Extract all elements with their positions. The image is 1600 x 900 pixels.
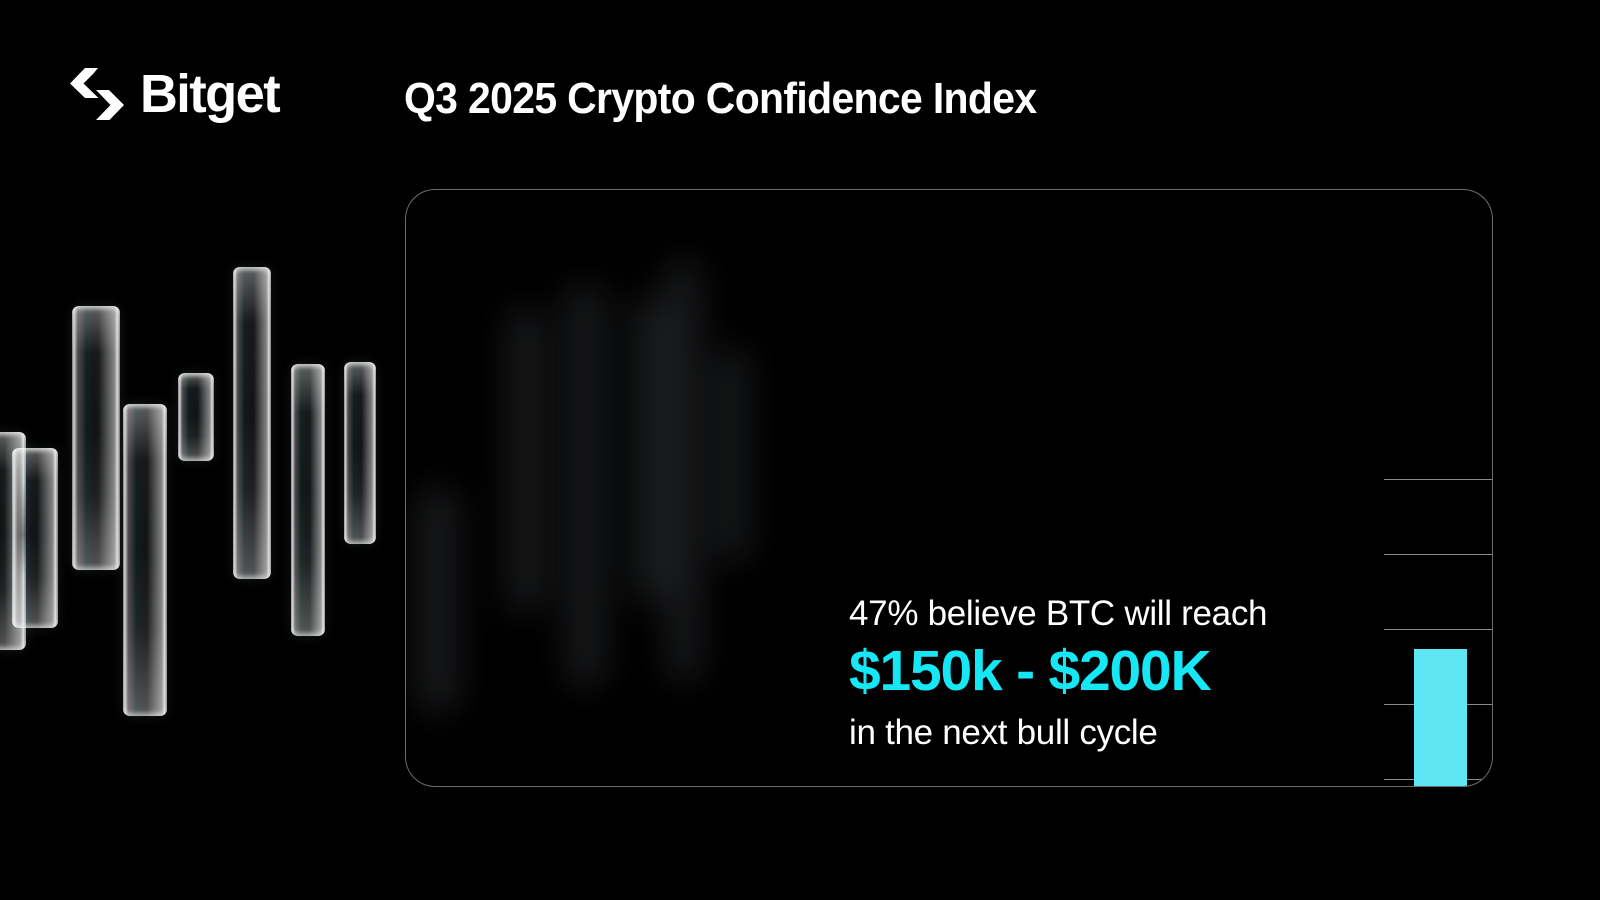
glass-prism-decoration [0, 0, 400, 900]
gridline-40: 40% [1384, 554, 1493, 555]
insight-card: 47% believe BTC will reach $150k - $200K… [405, 189, 1493, 787]
statement-lead-line: 47% believe BTC will reach [849, 594, 1389, 633]
statement-price-range: $150k - $200K [849, 637, 1389, 707]
chart-plot-area: 50% 40% 30% 20% 10% <150K 150K - 200k 20… [1384, 479, 1493, 787]
bar-0[interactable] [1414, 649, 1467, 787]
page-title: Q3 2025 Crypto Confidence Index [404, 74, 1036, 124]
glass-prism [233, 267, 271, 579]
glass-prism [72, 306, 120, 570]
statement-block: 47% believe BTC will reach $150k - $200K… [849, 594, 1389, 752]
glass-prism [123, 404, 167, 716]
glass-prism [344, 362, 376, 544]
glass-prism [178, 373, 214, 461]
bar-chart: 50% 40% 30% 20% 10% <150K 150K - 200k 20… [1384, 460, 1493, 787]
gridline-30: 30% [1384, 629, 1493, 630]
glass-prism [12, 448, 58, 628]
glass-prism [291, 364, 325, 636]
statement-trail-line: in the next bull cycle [849, 713, 1389, 752]
gridline-50: 50% [1384, 479, 1493, 480]
